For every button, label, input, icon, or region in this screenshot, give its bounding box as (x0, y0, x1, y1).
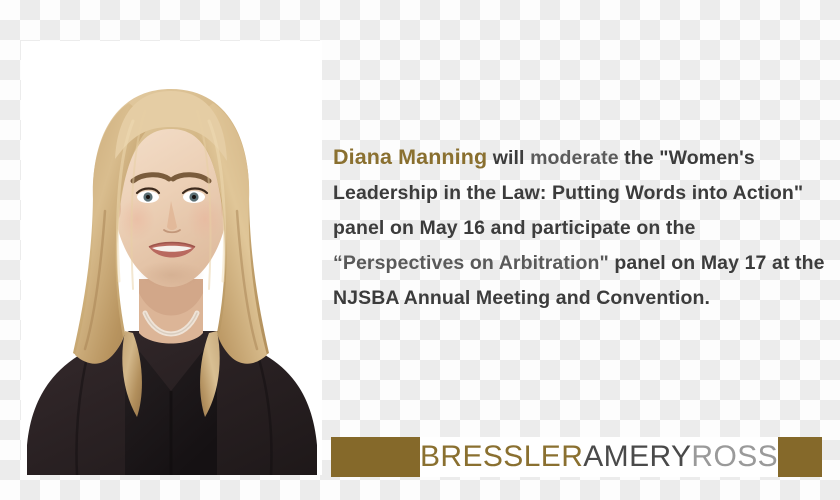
announcement-text-block: Diana Manning will moderate the "Women's… (333, 140, 825, 316)
portrait-illustration (21, 41, 322, 475)
brand-bar-left-cap (331, 437, 420, 477)
announcement-run-1: will (487, 147, 530, 169)
brand-logo-bar: BRESSLERAMERYROSS (331, 437, 821, 477)
headshot-panel (21, 41, 322, 475)
announcement-run-4: “Perspectives on Arbitration" (333, 252, 609, 274)
attorney-name: Diana Manning (333, 145, 487, 169)
announcement-paragraph: Diana Manning will moderate the "Women's… (333, 140, 825, 316)
announcement-run-2: moderate (530, 147, 619, 169)
brand-word-bressler: BRESSLER (420, 442, 583, 472)
promo-graphic-canvas: Diana Manning will moderate the "Women's… (0, 0, 840, 500)
portrait-image (21, 41, 322, 475)
brand-wordmark: BRESSLERAMERYROSS (420, 437, 778, 477)
brand-bar-right-cap (778, 437, 822, 477)
brand-word-ross: ROSS (691, 442, 778, 472)
brand-word-amery: AMERY (583, 442, 691, 472)
